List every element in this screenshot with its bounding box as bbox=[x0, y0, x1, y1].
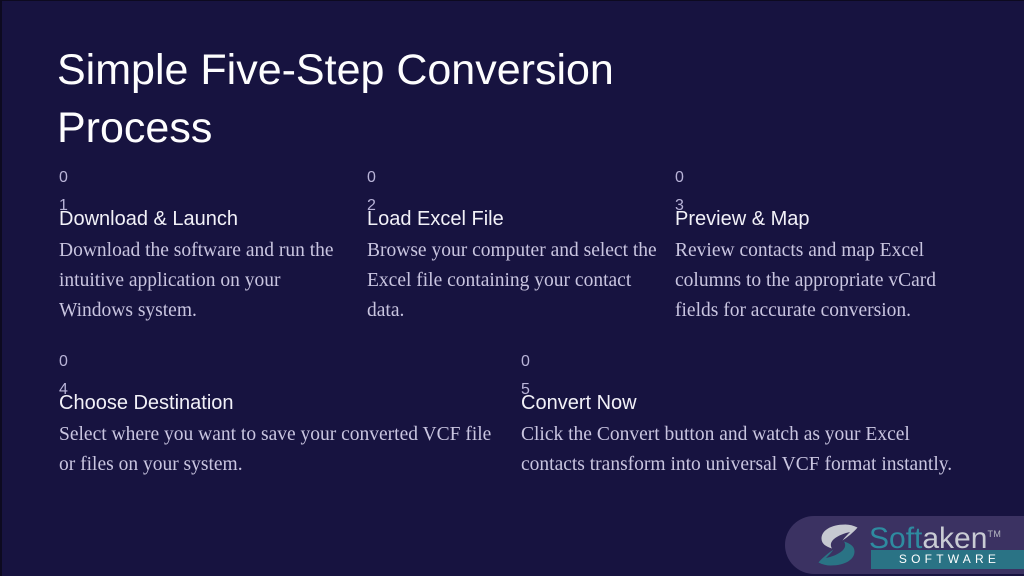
logo-inner: SoftakenTM SOFTWARE bbox=[785, 516, 1024, 574]
step-body-3: Review contacts and map Excel columns to… bbox=[675, 236, 970, 326]
step-body-1: Download the software and run the intuit… bbox=[59, 236, 349, 326]
step-heading-2: Load Excel File bbox=[367, 205, 657, 231]
logo-trademark: TM bbox=[987, 529, 1001, 539]
step-heading-4: Choose Destination bbox=[59, 389, 509, 415]
logo-tagline: SOFTWARE bbox=[871, 550, 1024, 569]
step-number-3: 03 bbox=[675, 164, 686, 192]
softaken-s-swoosh-icon bbox=[814, 522, 862, 568]
step-card-1: 01 Download & Launch Download the softwa… bbox=[59, 164, 349, 326]
step-heading-3: Preview & Map bbox=[675, 205, 970, 231]
step-number-4: 04 bbox=[59, 348, 70, 376]
step-card-4: 04 Choose Destination Select where you w… bbox=[59, 348, 509, 480]
slide-canvas: Simple Five-Step Conversion Process 01 D… bbox=[0, 0, 1024, 576]
step-body-4: Select where you want to save your conve… bbox=[59, 420, 509, 480]
step-card-5: 05 Convert Now Click the Convert button … bbox=[521, 348, 971, 480]
logo-wordmark: SoftakenTM bbox=[869, 518, 1001, 550]
logo-tagline-bar: SOFTWARE bbox=[871, 550, 1024, 569]
step-body-2: Browse your computer and select the Exce… bbox=[367, 236, 657, 326]
step-heading-1: Download & Launch bbox=[59, 205, 349, 231]
step-heading-5: Convert Now bbox=[521, 389, 971, 415]
step-number-5: 05 bbox=[521, 348, 532, 376]
step-number-1: 01 bbox=[59, 164, 70, 192]
page-title: Simple Five-Step Conversion Process bbox=[57, 41, 697, 157]
step-card-3: 03 Preview & Map Review contacts and map… bbox=[675, 164, 970, 326]
step-card-2: 02 Load Excel File Browse your computer … bbox=[367, 164, 657, 326]
step-number-2: 02 bbox=[367, 164, 378, 192]
step-body-5: Click the Convert button and watch as yo… bbox=[521, 420, 971, 480]
softaken-logo: SoftakenTM SOFTWARE bbox=[785, 516, 1024, 574]
